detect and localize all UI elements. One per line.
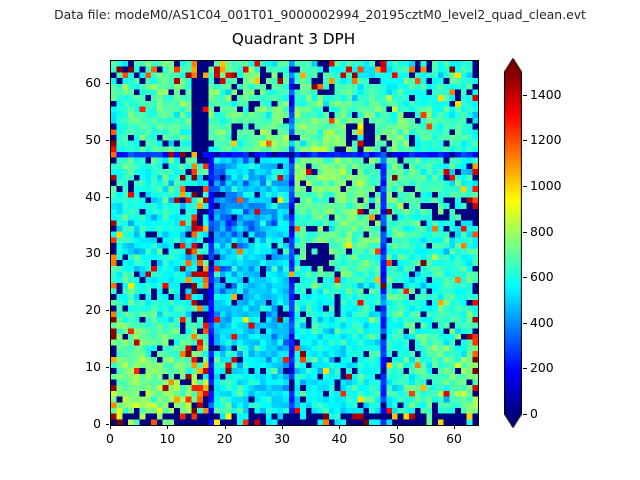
heatmap-image xyxy=(111,61,478,425)
colorbar-tick-mark xyxy=(523,186,527,187)
colorbar-tick-label: 1000 xyxy=(530,178,562,193)
colorbar-tick-mark xyxy=(523,277,527,278)
y-tick-label: 30 xyxy=(63,245,101,260)
y-tick-label: 10 xyxy=(63,359,101,374)
y-tick-mark xyxy=(106,424,110,425)
x-tick-mark xyxy=(167,425,168,429)
x-tick-mark xyxy=(225,425,226,429)
y-tick-mark xyxy=(106,367,110,368)
x-tick-label: 50 xyxy=(377,431,417,446)
colorbar-tick-mark xyxy=(523,140,527,141)
matplotlib-figure: Data file: modeM0/AS1C04_001T01_90000029… xyxy=(0,0,640,480)
x-tick-label: 60 xyxy=(434,431,474,446)
colorbar-tick-label: 400 xyxy=(530,315,554,330)
x-tick-label: 20 xyxy=(205,431,245,446)
y-tick-mark xyxy=(106,253,110,254)
colorbar-tick-mark xyxy=(523,368,527,369)
x-tick-label: 40 xyxy=(319,431,359,446)
heatmap-axes xyxy=(110,60,479,426)
colorbar-tick-label: 1400 xyxy=(530,87,562,102)
colorbar-tick-label: 600 xyxy=(530,269,554,284)
x-tick-mark xyxy=(339,425,340,429)
x-tick-mark xyxy=(282,425,283,429)
colorbar-tick-label: 200 xyxy=(530,360,554,375)
colorbar-tick-mark xyxy=(523,414,527,415)
y-tick-mark xyxy=(106,197,110,198)
data-file-label: Data file: modeM0/AS1C04_001T01_90000029… xyxy=(0,7,640,22)
y-tick-label: 40 xyxy=(63,189,101,204)
y-tick-label: 60 xyxy=(63,75,101,90)
y-tick-label: 50 xyxy=(63,132,101,147)
y-tick-mark xyxy=(106,310,110,311)
x-tick-mark xyxy=(110,425,111,429)
colorbar-tick-mark xyxy=(523,323,527,324)
y-tick-label: 0 xyxy=(63,416,101,431)
page-title: Quadrant 3 DPH xyxy=(110,30,477,48)
y-tick-mark xyxy=(106,83,110,84)
colorbar-tick-mark xyxy=(523,95,527,96)
y-tick-mark xyxy=(106,140,110,141)
colorbar-tick-label: 0 xyxy=(530,406,538,421)
colorbar-gradient xyxy=(504,58,522,428)
x-tick-label: 0 xyxy=(90,431,130,446)
colorbar xyxy=(504,58,522,428)
x-tick-label: 10 xyxy=(147,431,187,446)
x-tick-mark xyxy=(454,425,455,429)
colorbar-tick-label: 1200 xyxy=(530,132,562,147)
y-tick-label: 20 xyxy=(63,302,101,317)
x-tick-mark xyxy=(397,425,398,429)
x-tick-label: 30 xyxy=(262,431,302,446)
colorbar-tick-mark xyxy=(523,232,527,233)
colorbar-tick-label: 800 xyxy=(530,224,554,239)
